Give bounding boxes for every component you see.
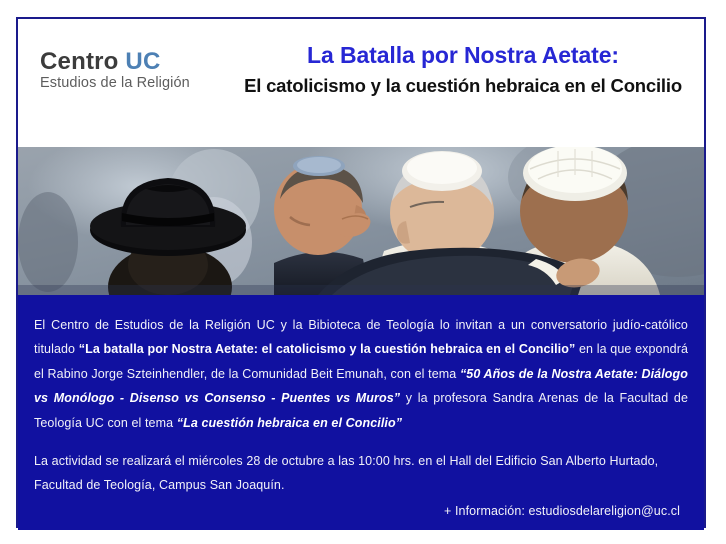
photo-embrace-image [18,147,704,295]
title-block: La Batalla por Nostra Aetate: El catolic… [233,41,693,98]
body-paragraph-2: La actividad se realizará el miércoles 2… [34,449,688,498]
poster-title: La Batalla por Nostra Aetate: [233,41,693,69]
poster-frame: Centro UC Estudios de la Religión La Bat… [16,17,706,528]
logo-primary-line: Centro UC [40,49,225,74]
body-paragraph-1: El Centro de Estudios de la Religión UC … [34,313,688,435]
logo-secondary-line: Estudios de la Religión [40,76,225,91]
logo-word-centro: Centro [40,48,125,75]
logo-word-uc: UC [125,48,160,75]
p1-seg-topic-professor: “La cuestión hebraica en el Concilio” [177,416,402,430]
contact-info: + Información: estudiosdelareligion@uc.c… [444,504,680,518]
poster-header: Centro UC Estudios de la Religión La Bat… [18,19,704,147]
poster-body-panel: El Centro de Estudios de la Religión UC … [18,295,704,530]
centro-uc-logo: Centro UC Estudios de la Religión [40,49,225,91]
poster-subtitle: El catolicismo y la cuestión hebraica en… [233,74,693,98]
poster-photo [18,147,704,295]
p1-seg-conversation-title: “La batalla por Nostra Aetate: el catoli… [79,342,576,356]
